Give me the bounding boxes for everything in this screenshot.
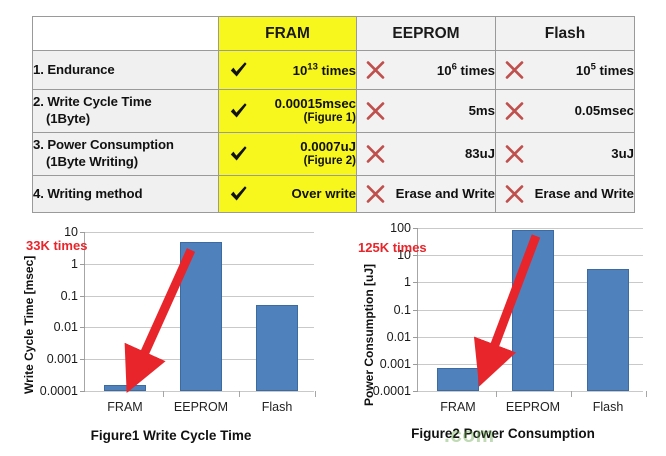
figure1-y-axis-title: Write Cycle Time [msec] [22,256,36,394]
watermark-text: .com [444,424,495,448]
x-label-flash: Flash [593,400,624,414]
x-label-fram: FRAM [107,400,142,414]
x-label-eeprom: EEPROM [174,400,228,414]
gridline [85,391,314,392]
row-label-1: 1. Endurance [33,51,219,90]
row-label-3: 3. Power Consumption(1Byte Writing) [33,133,219,176]
cell-eeprom-3: 83uJ [357,133,496,176]
row-label-main: 3. Power Consumption [33,137,174,152]
cell-flash-2: 0.05msec [496,90,635,133]
figure1-caption: Figure1 Write Cycle Time [6,428,336,443]
gridline [85,232,314,233]
cell-fram-1: 1013 times [219,51,357,90]
y-tick-label: 100 [390,221,411,235]
figure1-annotation: 33K times [26,238,87,253]
y-tick-label: 0.01 [387,330,411,344]
check-icon [228,60,249,81]
check-icon [228,184,249,205]
x-label-fram: FRAM [440,400,475,414]
cross-icon [365,184,386,205]
y-tick-label: 0.001 [380,357,411,371]
bar-eeprom [512,230,554,391]
table-row: 3. Power Consumption(1Byte Writing)0.000… [33,133,635,176]
memory-comparison-table: FRAM EEPROM Flash 1. Endurance1013 times… [32,16,635,213]
figure2-plot-area: 1001010.10.010.0010.0001FRAMEEPROMFlash [417,228,643,392]
cell-flash-3-value: 3uJ [611,146,634,161]
cell-eeprom-1-value: 106 times [437,63,495,78]
y-tick-mark [413,364,418,365]
y-tick-label: 0.001 [47,352,78,366]
cell-flash-2-value: 0.05msec [575,103,634,118]
row-label-main: 4. Writing method [33,186,142,201]
cell-eeprom-3-value: 83uJ [465,146,495,161]
x-label-eeprom: EEPROM [506,400,560,414]
table-header-row: FRAM EEPROM Flash [33,17,635,51]
y-tick-label: 0.01 [54,320,78,334]
cross-icon [365,60,386,81]
y-tick-mark [413,391,418,392]
y-tick-mark [413,282,418,283]
cross-icon [504,101,525,122]
row-label-main: 1. Endurance [33,62,115,77]
x-label-flash: Flash [262,400,293,414]
y-tick-mark [413,255,418,256]
table-row: 1. Endurance1013 times106 times105 times [33,51,635,90]
cell-fram-1-value: 1013 times [293,63,356,78]
y-tick-label: 0.0001 [40,384,78,398]
row-label-2: 2. Write Cycle Time(1Byte) [33,90,219,133]
cross-icon [504,144,525,165]
cell-fram-4: Over write [219,176,357,213]
check-icon [228,144,249,165]
y-tick-mark [80,232,85,233]
cell-fram-3: 0.0007uJ(Figure 2) [219,133,357,176]
cell-eeprom-2-value: 5ms [469,103,495,118]
cell-flash-3: 3uJ [496,133,635,176]
bar-fram [104,385,146,391]
x-tick-mark [163,391,164,397]
cell-eeprom-2: 5ms [357,90,496,133]
cell-flash-4: Erase and Write [496,176,635,213]
cell-flash-4-value: Erase and Write [535,186,634,201]
bar-eeprom [180,242,222,391]
x-tick-mark [315,391,316,397]
gridline [418,228,643,229]
cross-icon [365,101,386,122]
cell-eeprom-4-value: Erase and Write [396,186,495,201]
figure1-panel: Write Cycle Time [msec] 1010.10.010.0010… [6,222,336,456]
y-tick-label: 0.1 [394,303,411,317]
header-blank [33,17,219,51]
y-tick-mark [413,310,418,311]
cross-icon [365,144,386,165]
x-tick-mark [239,391,240,397]
figure2-annotation: 125K times [358,240,427,255]
cell-eeprom-1: 106 times [357,51,496,90]
cell-fram-3-value: 0.0007uJ [300,139,356,154]
bar-flash [587,269,629,391]
header-flash: Flash [496,17,635,51]
table-row: 4. Writing methodOver writeErase and Wri… [33,176,635,213]
y-tick-mark [80,391,85,392]
row-label-4: 4. Writing method [33,176,219,213]
cell-flash-1: 105 times [496,51,635,90]
y-tick-label: 0.1 [61,289,78,303]
figure1-plot-area: 1010.10.010.0010.0001FRAMEEPROMFlash [84,232,314,392]
figure2-panel: Power Consumption [uJ] 1001010.10.010.00… [340,222,666,456]
y-tick-mark [80,327,85,328]
table-body: 1. Endurance1013 times106 times105 times… [33,51,635,213]
check-icon [228,101,249,122]
cell-flash-1-value: 105 times [576,63,634,78]
cell-fram-2-value: 0.00015msec [275,96,356,111]
x-tick-mark [496,391,497,397]
x-tick-mark [571,391,572,397]
bar-fram [437,368,479,391]
cell-fram-4-value: Over write [291,186,356,201]
bar-flash [256,305,298,391]
y-tick-label: 0.0001 [373,384,411,398]
row-label-sub: (1Byte) [33,111,218,128]
table-row: 2. Write Cycle Time(1Byte)0.00015msec(Fi… [33,90,635,133]
y-tick-mark [413,337,418,338]
y-tick-mark [80,296,85,297]
x-tick-mark [646,391,647,397]
cell-fram-2: 0.00015msec(Figure 1) [219,90,357,133]
y-tick-label: 10 [64,225,78,239]
cross-icon [504,184,525,205]
y-tick-label: 1 [71,257,78,271]
gridline [418,391,643,392]
y-tick-label: 1 [404,275,411,289]
y-tick-mark [413,228,418,229]
y-tick-mark [80,264,85,265]
row-label-sub: (1Byte Writing) [33,154,218,171]
cross-icon [504,60,525,81]
figure2-caption: Figure2 Power Consumption [340,426,666,441]
cell-eeprom-4: Erase and Write [357,176,496,213]
row-label-main: 2. Write Cycle Time [33,94,152,109]
y-tick-mark [80,359,85,360]
header-eeprom: EEPROM [357,17,496,51]
header-fram: FRAM [219,17,357,51]
